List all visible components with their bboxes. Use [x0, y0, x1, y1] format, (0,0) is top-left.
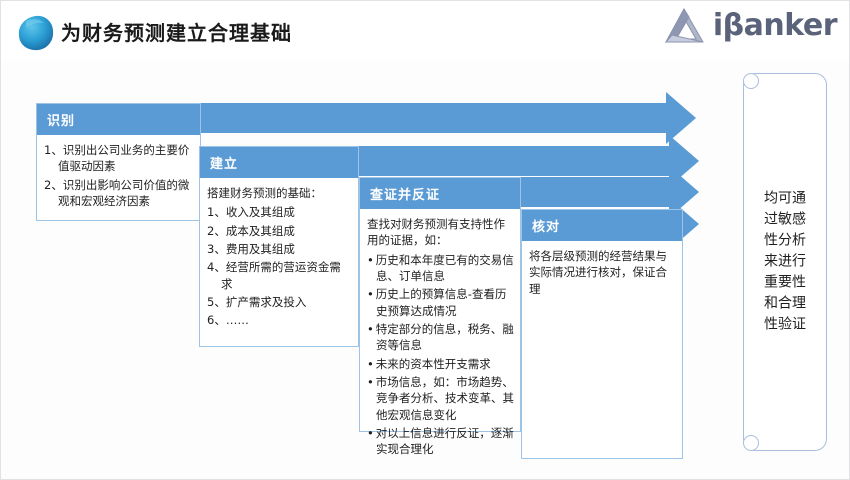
stage-box-establish: 建立 搭建财务预测的基础： 1、收入及其组成 2、成本及其组成 3、费用及其组成… [199, 146, 359, 347]
stage-bullet: 未来的资本性开支需求 [367, 356, 514, 372]
stage-bullet: 特定部分的信息，税务、融资等信息 [367, 321, 514, 354]
bracket-notch-top-icon [743, 73, 759, 89]
page-title: 为财务预测建立合理基础 [61, 17, 292, 46]
stage-line: 2、成本及其组成 [207, 223, 352, 239]
bracket-notch-bottom-icon [743, 435, 759, 451]
stage-line: 3、费用及其组成 [207, 241, 352, 257]
stage-line: 4、经营所需的营运资金需求 [207, 259, 352, 292]
stage-title-establish: 建立 [200, 147, 358, 178]
brand-name: iβanker [713, 11, 837, 45]
stage-body-reconcile: 将各层级预测的经营结果与实际情况进行核对，保证合理 [522, 241, 682, 306]
stage-box-identify: 识别 1、识别出公司业务的主要价值驱动因素 2、识别出影响公司价值的微观和宏观经… [36, 103, 201, 221]
slide-header: 为财务预测建立合理基础 iβanker [1, 1, 850, 61]
stage-bullet: 对以上信息进行反证，逐渐实现合理化 [367, 425, 514, 458]
stage-bullet: 历史上的预算信息-查看历史预算达成情况 [367, 286, 514, 319]
blue-blob-icon [16, 14, 56, 52]
slide-canvas: 为财务预测建立合理基础 iβanker [0, 0, 850, 480]
stage-bullet: 历史和本年度已有的交易信息、订单信息 [367, 252, 514, 285]
brand-logo: iβanker [661, 5, 837, 51]
penrose-triangle-icon [661, 5, 707, 51]
summary-text: 均可通过敏感性分析来进行重要性和合理性验证 [744, 189, 826, 336]
stage-bullet: 市场信息，如：市场趋势、竞争者分析、技术变革、其他宏观信息变化 [367, 374, 514, 423]
stage-line: 1、识别出公司业务的主要价值驱动因素 [44, 142, 194, 175]
summary-bracket-panel: 均可通过敏感性分析来进行重要性和合理性验证 [743, 73, 827, 451]
stage-intro: 搭建财务预测的基础： [207, 185, 352, 201]
stage-line: 将各层级预测的经营结果与实际情况进行核对，保证合理 [529, 248, 676, 297]
stage-body-identify: 1、识别出公司业务的主要价值驱动因素 2、识别出影响公司价值的微观和宏观经济因素 [37, 135, 200, 217]
stage-body-establish: 搭建财务预测的基础： 1、收入及其组成 2、成本及其组成 3、费用及其组成 4、… [200, 178, 358, 337]
stage-line: 2、识别出影响公司价值的微观和宏观经济因素 [44, 177, 194, 210]
stage-title-verify: 查证并反证 [360, 178, 520, 209]
stage-title-identify: 识别 [37, 104, 200, 135]
stage-line: 6、…… [207, 312, 352, 328]
stage-line: 5、扩产需求及投入 [207, 294, 352, 310]
stage-title-reconcile: 核对 [522, 210, 682, 241]
stage-box-verify: 查证并反证 查找对财务预测有支持性作用的证据，如： 历史和本年度已有的交易信息、… [359, 177, 521, 432]
stage-intro: 查找对财务预测有支持性作用的证据，如： [367, 216, 514, 249]
stage-body-verify: 查找对财务预测有支持性作用的证据，如： 历史和本年度已有的交易信息、订单信息 历… [360, 209, 520, 466]
stage-line: 1、收入及其组成 [207, 204, 352, 220]
stage-box-reconcile: 核对 将各层级预测的经营结果与实际情况进行核对，保证合理 [521, 209, 683, 459]
